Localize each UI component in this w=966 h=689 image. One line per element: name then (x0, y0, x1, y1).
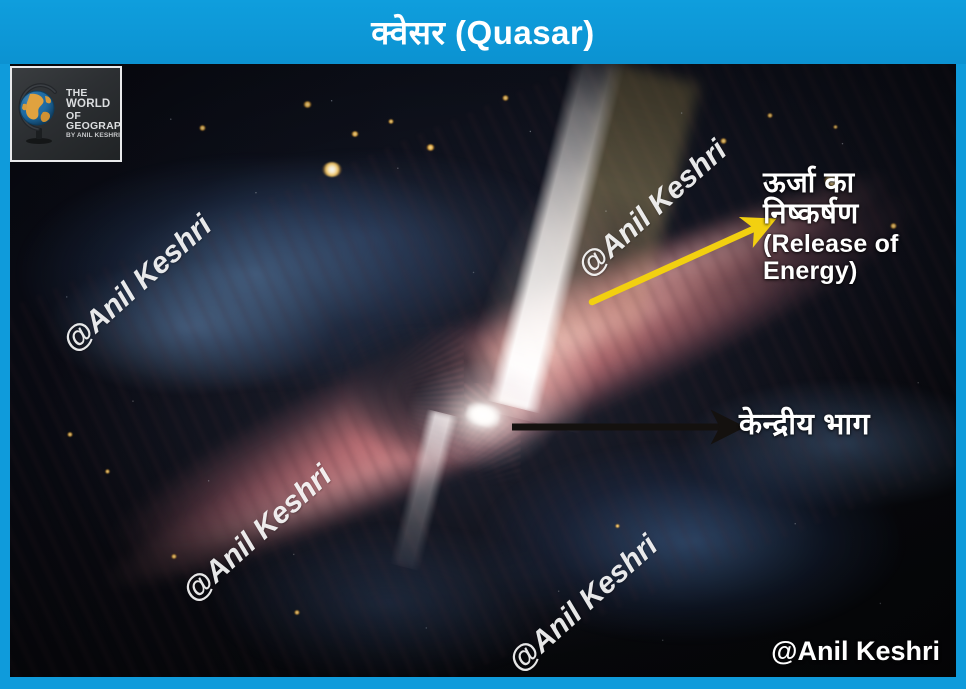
logo-line-geography: GEOGRAPHY (66, 121, 122, 132)
header-band: क्वेसर (Quasar) (0, 0, 966, 64)
annotation-central-part: केन्द्रीय भाग (739, 402, 870, 443)
the-world-of-geography-logo: THE WORLD OF GEOGRAPHY BY ANIL KESHRI (10, 66, 122, 162)
globe-icon (15, 82, 63, 146)
page-title: क्वेसर (Quasar) (371, 16, 595, 49)
annotation-hindi-line-2: निष्कर्षण (763, 199, 963, 230)
annotation-release-of-energy: ऊर्जा का निष्कर्षण (Release of Energy) (763, 168, 963, 285)
logo-line-byline: BY ANIL KESHRI (66, 133, 122, 140)
annotation-hindi-line-1: ऊर्जा का (763, 168, 963, 199)
annotation-english-line-1: (Release of (763, 231, 963, 258)
annotation-english-line-2: Energy) (763, 258, 963, 285)
quasar-infographic: क्वेसर (Quasar) (0, 0, 966, 689)
vignette-overlay (10, 64, 956, 677)
watermark-corner: @Anil Keshri (771, 636, 940, 667)
logo-line-world: WORLD (66, 99, 122, 111)
logo-text-block: THE WORLD OF GEOGRAPHY BY ANIL KESHRI (66, 88, 122, 140)
quasar-illustration: @Anil Keshri @Anil Keshri @Anil Keshri @… (10, 64, 956, 677)
